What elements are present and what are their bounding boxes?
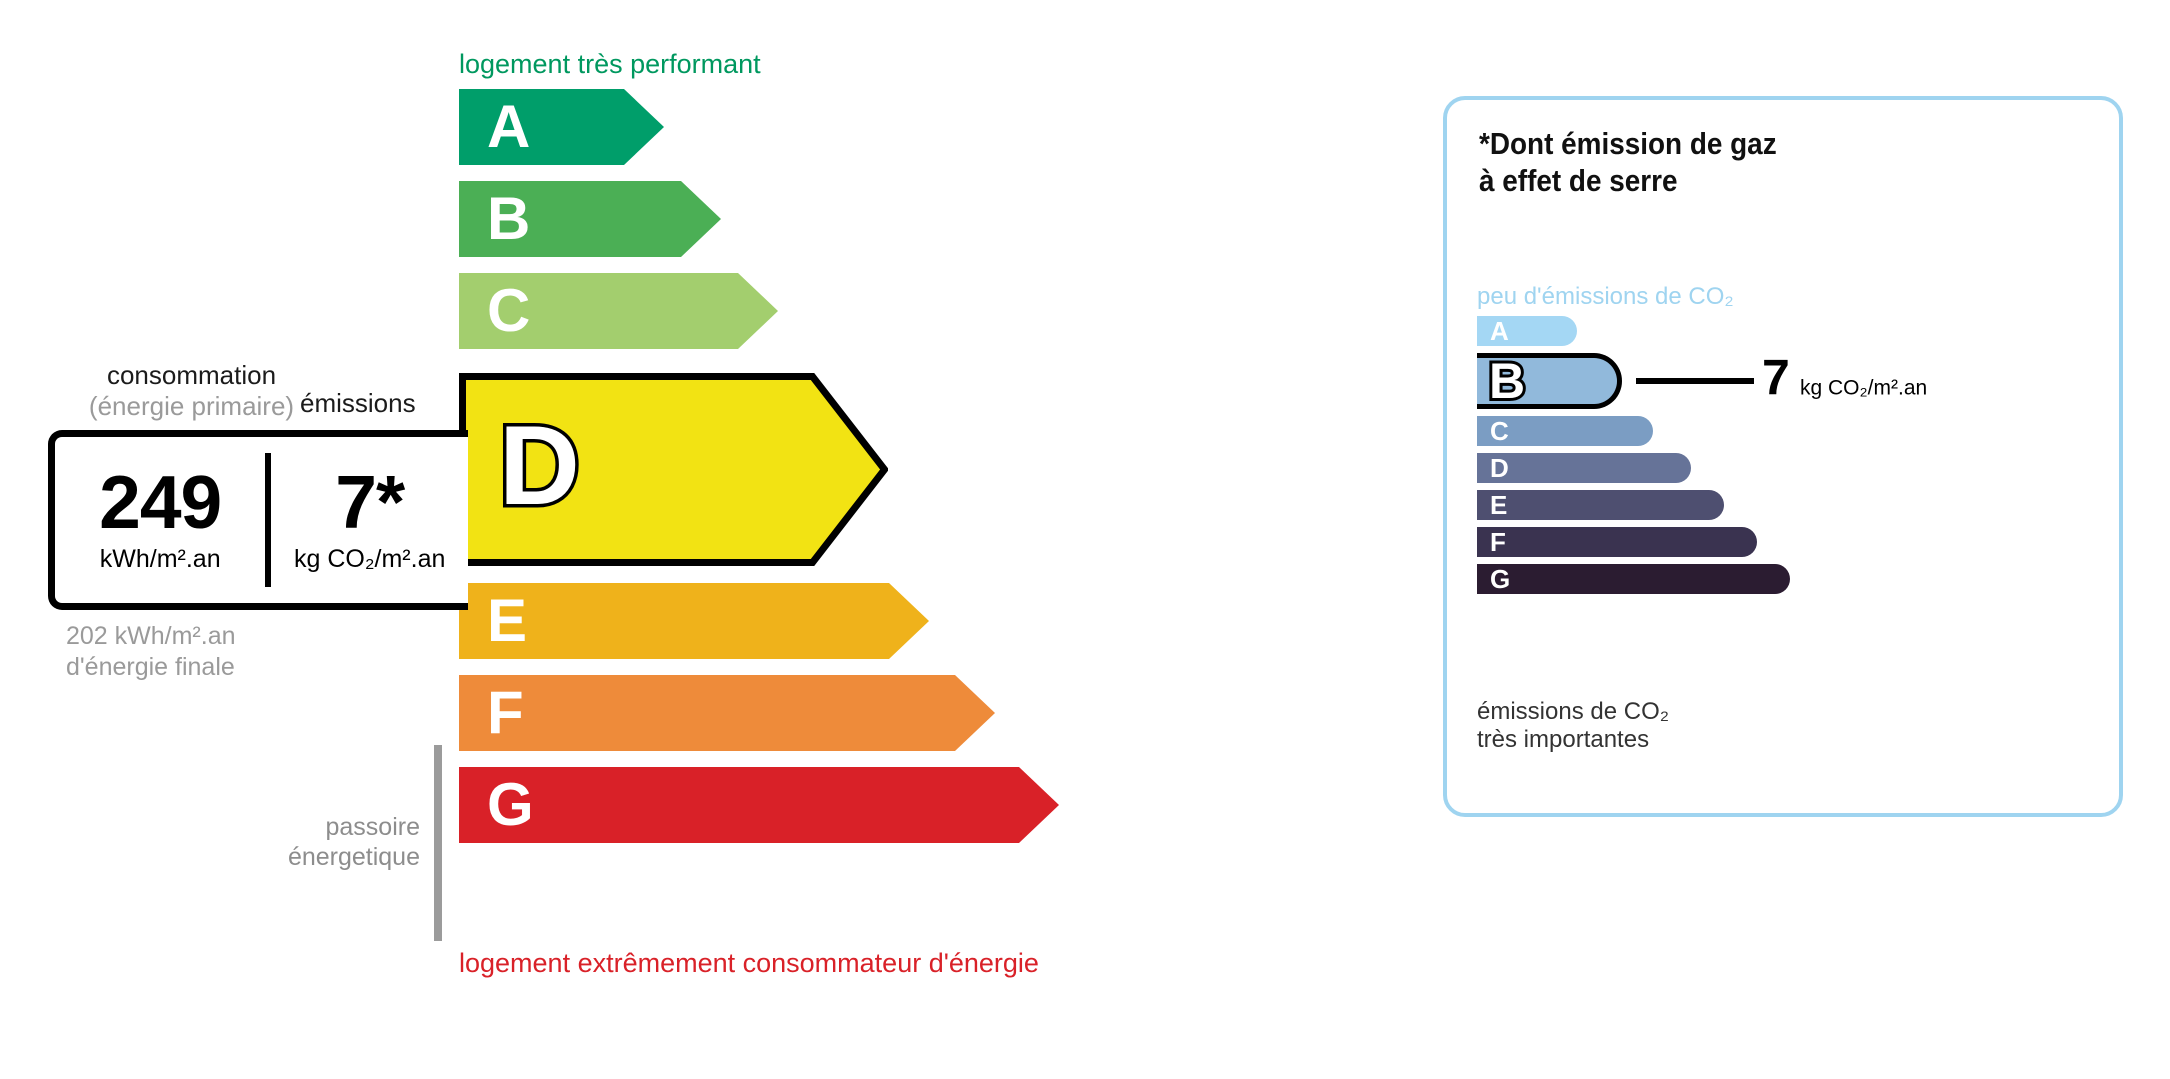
energy-arrow-b: B [459,181,721,257]
co2-title-line2: à effet de serre [1479,163,1777,200]
energy-arrow-shape-g: G [459,767,1059,843]
final-energy-note: 202 kWh/m².an d'énergie finale [66,621,236,682]
co2-bar-letter-a: A [1490,318,1509,344]
co2-bar-letter-c: C [1490,418,1509,444]
energy-arrow-c: C [459,273,778,349]
energy-arrow-letter-c: C [487,281,530,341]
co2-bar-row-b: B7kg CO₂/m².an [1477,353,1790,409]
final-energy-line2: d'énergie finale [66,652,236,683]
energy-arrow-a: A [459,89,664,165]
co2-bar-row-f: F [1477,527,1790,557]
energy-arrow-shape-b: B [459,181,721,257]
co2-bar-letter-g: G [1490,566,1510,592]
energy-arrow-shape-f: F [459,675,995,751]
energy-arrow-letter-a: A [487,97,530,157]
co2-bottom-caption-line1: émissions de CO₂ [1477,698,1669,726]
co2-bottom-caption-line2: très importantes [1477,726,1669,754]
energy-top-caption: logement très performant [459,49,761,80]
emissions-value: 7* [335,466,404,540]
co2-bar-e: E [1477,490,1724,520]
energy-arrow-d: D [459,373,888,559]
energy-performance-panel: logement très performant consommation (é… [0,0,1400,1079]
energy-arrow-svg-f [459,675,995,751]
emissions-value-cell: 7* kg CO₂/m².an [271,437,468,603]
co2-title-line1: *Dont émission de gaz [1479,126,1777,163]
value-box: 249 kWh/m².an 7* kg CO₂/m².an [48,430,468,610]
co2-bar-letter-e: E [1490,492,1507,518]
co2-bar-letter-f: F [1490,529,1506,555]
energy-arrow-shape-a: A [459,89,664,165]
passoire-energetique-label: passoire énergetique [250,812,420,872]
consumption-header-line2: (énergie primaire) [64,391,319,422]
energy-arrow-svg-g [459,767,1059,843]
final-energy-line1: 202 kWh/m².an [66,621,236,652]
consumption-header: consommation (énergie primaire) [64,360,319,421]
energy-arrow-letter-d: D [499,410,580,522]
energy-arrow-e: E [459,583,929,659]
co2-bar-letter-b: B [1489,356,1525,406]
co2-bar-row-e: E [1477,490,1790,520]
co2-panel-title: *Dont émission de gaz à effet de serre [1479,126,1777,199]
co2-callout-unit: kg CO₂/m².an [1800,377,1927,401]
consumption-unit: kWh/m².an [100,545,221,574]
energy-bottom-caption: logement extrêmement consommateur d'éner… [459,948,1039,979]
co2-bar-row-d: D [1477,453,1790,483]
co2-bar-f: F [1477,527,1757,557]
co2-bar-a: A [1477,316,1577,346]
co2-bar-g: G [1477,564,1790,594]
co2-top-caption: peu d'émissions de CO₂ [1477,283,1734,311]
energy-arrow-shape-c: C [459,273,778,349]
consumption-value-cell: 249 kWh/m².an [55,437,265,603]
co2-emissions-panel: *Dont émission de gaz à effet de serre p… [1443,96,2123,817]
co2-bar-b: B [1477,353,1622,409]
co2-callout-line [1636,378,1754,384]
passoire-line1: passoire [250,812,420,842]
energy-arrow-g: G [459,767,1059,843]
co2-bar-d: D [1477,453,1691,483]
co2-bar-c: C [1477,416,1653,446]
co2-class-bars: AB7kg CO₂/m².anCDEFG [1477,316,1790,601]
co2-bar-row-g: G [1477,564,1790,594]
co2-bar-row-a: A [1477,316,1790,346]
energy-arrow-letter-g: G [487,775,534,835]
consumption-header-line1: consommation [64,360,319,391]
co2-callout-value: 7 [1762,349,1790,407]
energy-arrow-shape-e: E [459,583,929,659]
energy-arrow-letter-f: F [487,683,524,743]
energy-arrow-f: F [459,675,995,751]
co2-bottom-caption: émissions de CO₂ très importantes [1477,698,1669,755]
passoire-line2: énergetique [250,842,420,872]
energy-arrow-svg-e [459,583,929,659]
emissions-unit: kg CO₂/m².an [294,545,445,574]
co2-bar-row-c: C [1477,416,1790,446]
energy-arrow-letter-e: E [487,591,527,651]
passoire-bracket [434,745,442,941]
consumption-value: 249 [99,466,221,540]
emissions-header: émissions [300,388,416,419]
co2-bar-letter-d: D [1490,455,1509,481]
energy-arrow-letter-b: B [487,189,530,249]
energy-arrow-shape-d: D [459,373,888,559]
dpe-energy-label: logement très performant consommation (é… [0,0,2170,1079]
